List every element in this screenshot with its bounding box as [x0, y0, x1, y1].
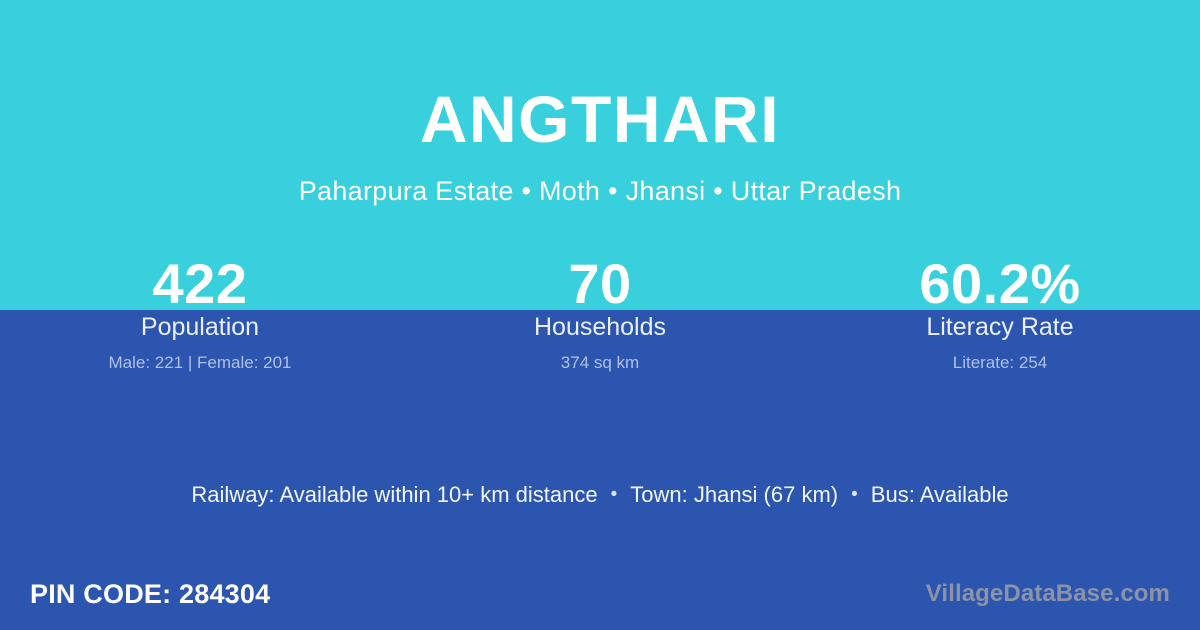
- stat-households: 70 Households 374 sq km: [400, 240, 800, 380]
- hero-section: ANGTHARI Paharpura Estate • Moth • Jhans…: [0, 0, 1200, 240]
- stats-strip: 422 Population Male: 221 | Female: 201 7…: [0, 240, 1200, 380]
- amenity-railway: Railway: Available within 10+ km distanc…: [191, 482, 597, 508]
- stat-label-literacy-rate: Literacy Rate: [926, 314, 1073, 342]
- stat-population: 422 Population Male: 221 | Female: 201: [0, 240, 400, 380]
- brand-watermark: VillageDataBase.com: [926, 580, 1170, 608]
- amenity-bus: Bus: Available: [871, 482, 1009, 508]
- stat-value-population: 422: [153, 240, 248, 310]
- pin-code: PIN CODE: 284304: [30, 579, 270, 610]
- stat-label-households: Households: [534, 314, 666, 342]
- footer: PIN CODE: 284304 VillageDataBase.com: [0, 558, 1200, 630]
- stat-literacy-rate: 60.2% Literacy Rate Literate: 254: [800, 240, 1200, 380]
- amenities-line: Railway: Available within 10+ km distanc…: [0, 482, 1200, 508]
- amenity-separator: •: [838, 484, 871, 507]
- amenity-town: Town: Jhansi (67 km): [630, 482, 838, 508]
- page-title: ANGTHARI: [420, 86, 780, 152]
- stat-sub-literacy-rate: Literate: 254: [953, 354, 1048, 373]
- stat-sub-households: 374 sq km: [561, 354, 639, 373]
- amenity-separator: •: [598, 484, 631, 507]
- breadcrumb: Paharpura Estate • Moth • Jhansi • Uttar…: [299, 177, 902, 207]
- stat-value-literacy-rate: 60.2%: [919, 240, 1080, 310]
- village-info-card: ANGTHARI Paharpura Estate • Moth • Jhans…: [0, 0, 1200, 630]
- stat-label-population: Population: [141, 314, 259, 342]
- stat-sub-population: Male: 221 | Female: 201: [108, 354, 291, 373]
- stat-value-households: 70: [568, 240, 631, 310]
